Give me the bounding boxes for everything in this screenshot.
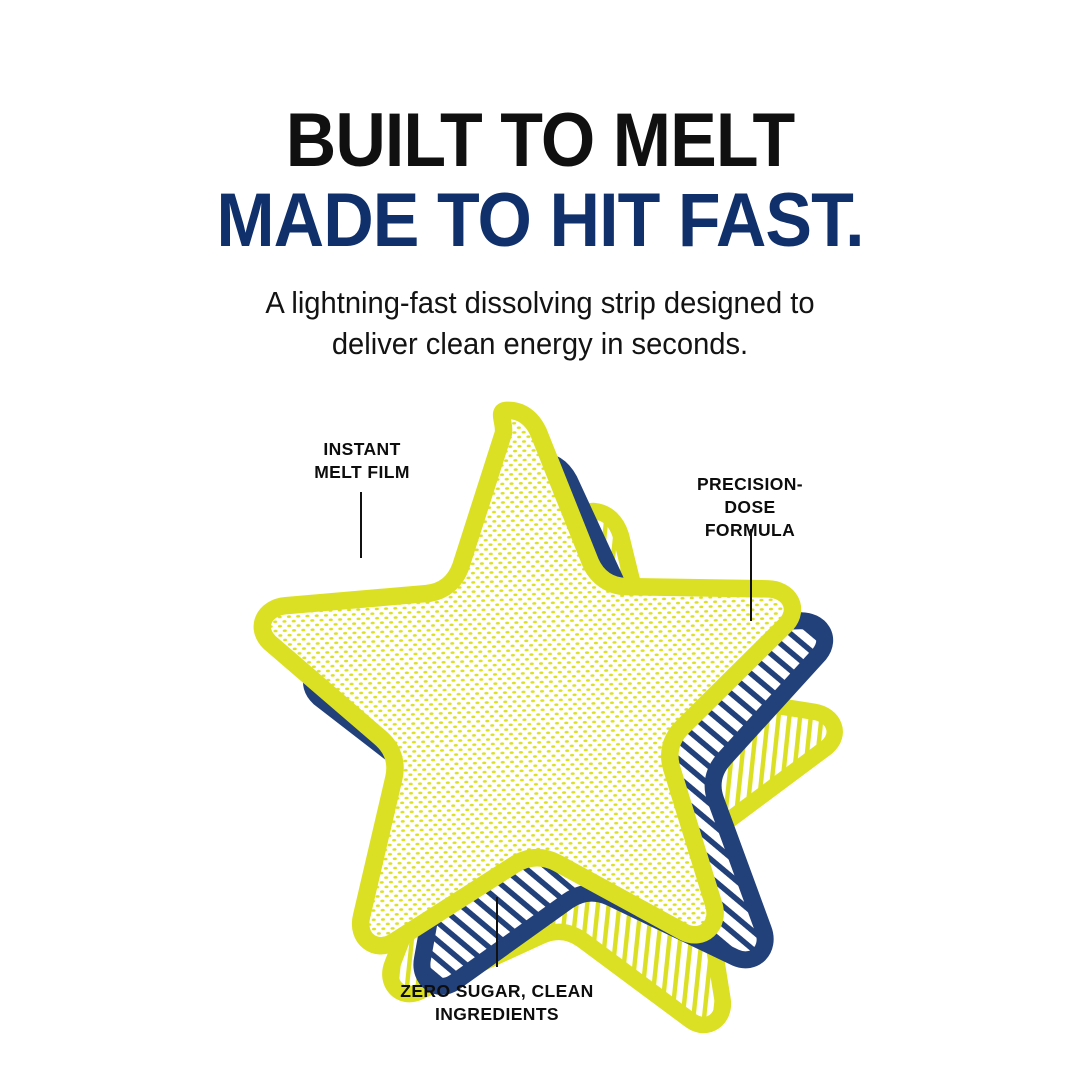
callout-instant-melt-film: INSTANT MELT FILM [272, 438, 452, 484]
leader-line-instant-melt-film [360, 492, 362, 558]
poster-canvas: BUILT TO MELT MADE TO HIT FAST. A lightn… [0, 0, 1080, 1080]
star-layer-vertical-stripe [306, 486, 855, 1035]
leader-line-precision-dose-formula [750, 529, 752, 621]
headline-line-1: BUILT TO MELT [43, 104, 1037, 178]
headline-block: BUILT TO MELT MADE TO HIT FAST. [0, 104, 1080, 259]
leader-line-zero-sugar [496, 897, 498, 967]
headline-line-2: MADE TO HIT FAST. [43, 184, 1037, 258]
callout-zero-sugar-clean-ingredients: ZERO SUGAR, CLEAN INGREDIENTS [352, 980, 642, 1026]
subheadline-line-2: deliver clean energy in seconds. [32, 323, 1047, 364]
subheadline-line-1: A lightning-fast dissolving strip design… [32, 282, 1047, 323]
subheadline: A lightning-fast dissolving strip design… [32, 282, 1047, 364]
